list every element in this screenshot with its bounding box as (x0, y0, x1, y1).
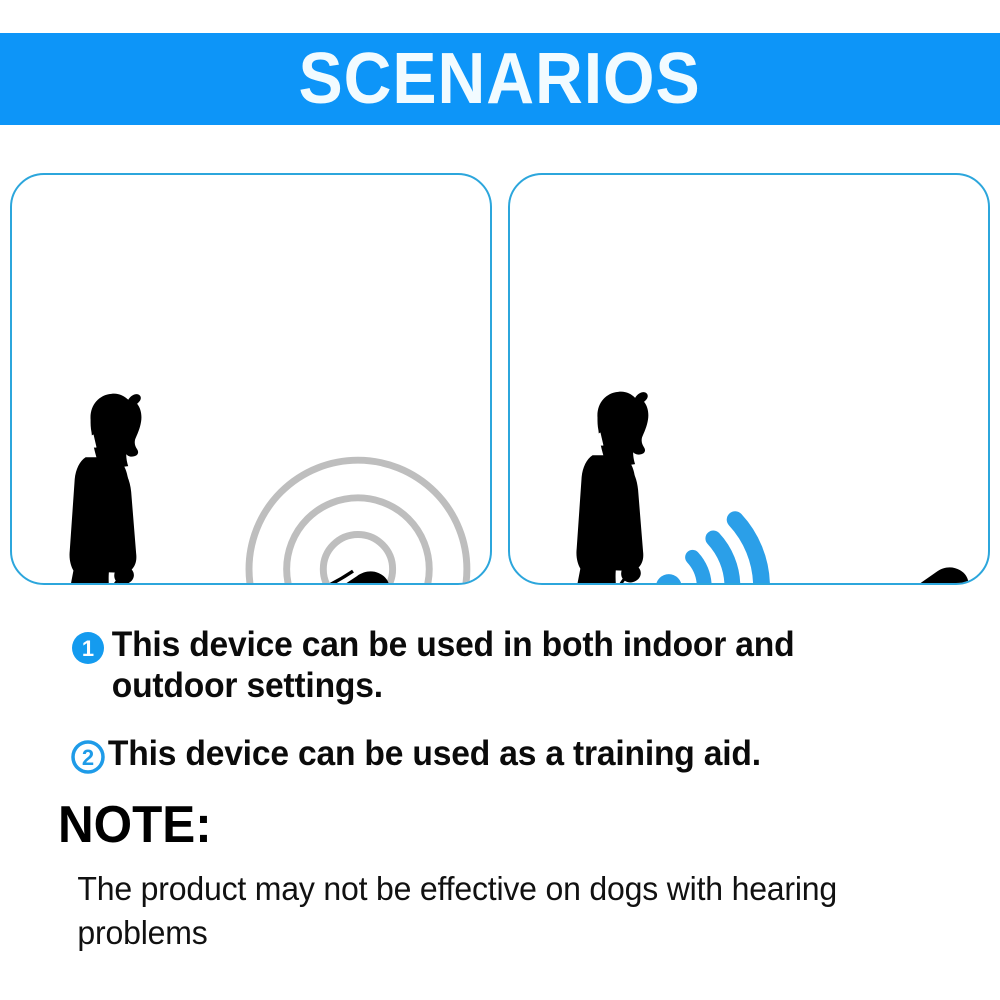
list-item: 2 This device can be used as a training … (0, 733, 1000, 775)
person-silhouette (520, 392, 655, 583)
svg-text:1: 1 (82, 636, 94, 661)
person-silhouette (13, 394, 148, 583)
numbered-badge-1-icon: 1 (70, 630, 106, 666)
scenario-panel-right (508, 173, 990, 585)
note-body: The product may not be effective on dogs… (58, 867, 931, 956)
list-item: 1 This device can be used in both indoor… (0, 624, 1000, 707)
bullet-text-2: This device can be used as a training ai… (106, 733, 761, 774)
bullet-text-1: This device can be used in both indoor a… (106, 624, 918, 707)
scenario-panels (10, 173, 990, 585)
note-section: NOTE: The product may not be effective o… (0, 798, 1000, 956)
page-header-banner: SCENARIOS (0, 33, 1000, 125)
concentric-sound-rings-icon (249, 460, 467, 583)
svg-text:2: 2 (82, 745, 94, 770)
numbered-badge-2-icon: 2 (70, 739, 106, 775)
page-title: SCENARIOS (299, 43, 701, 115)
wifi-signal-waves-icon (656, 520, 762, 583)
feature-bullet-list: 1 This device can be used in both indoor… (0, 624, 1000, 775)
leash-line (119, 571, 353, 583)
note-title: NOTE: (58, 798, 953, 853)
dog-silhouette (165, 571, 390, 583)
scenario-panel-left (10, 173, 492, 585)
